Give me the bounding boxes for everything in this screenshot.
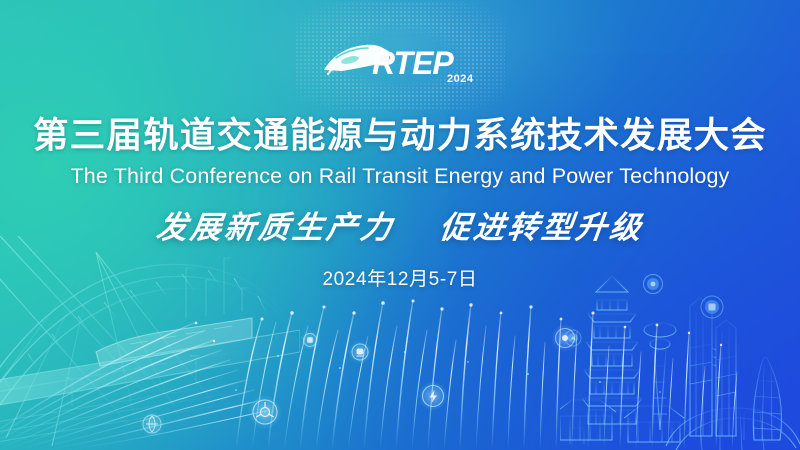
banner-content: RTEP 2024 第三届轨道交通能源与动力系统技术发展大会 The Third… [0,0,800,450]
conference-slogan: 发展新质生产力 促进转型升级 [0,205,800,251]
conference-date: 2024年12月5-7日 [0,267,800,293]
rtep-logo: RTEP 2024 [320,34,480,90]
rtep-logo-year: 2024 [447,73,474,85]
rtep-logo-svg: RTEP 2024 [320,34,480,90]
slogan-part-2: 促进转型升级 [438,210,646,245]
page-subtitle: The Third Conference on Rail Transit Ene… [0,163,800,190]
page-title: 第三届轨道交通能源与动力系统技术发展大会 [0,114,800,156]
conference-banner: RTEP 2024 第三届轨道交通能源与动力系统技术发展大会 The Third… [0,0,800,450]
slogan-part-1: 发展新质生产力 [154,210,396,245]
rtep-wordmark: RTEP [372,45,454,81]
